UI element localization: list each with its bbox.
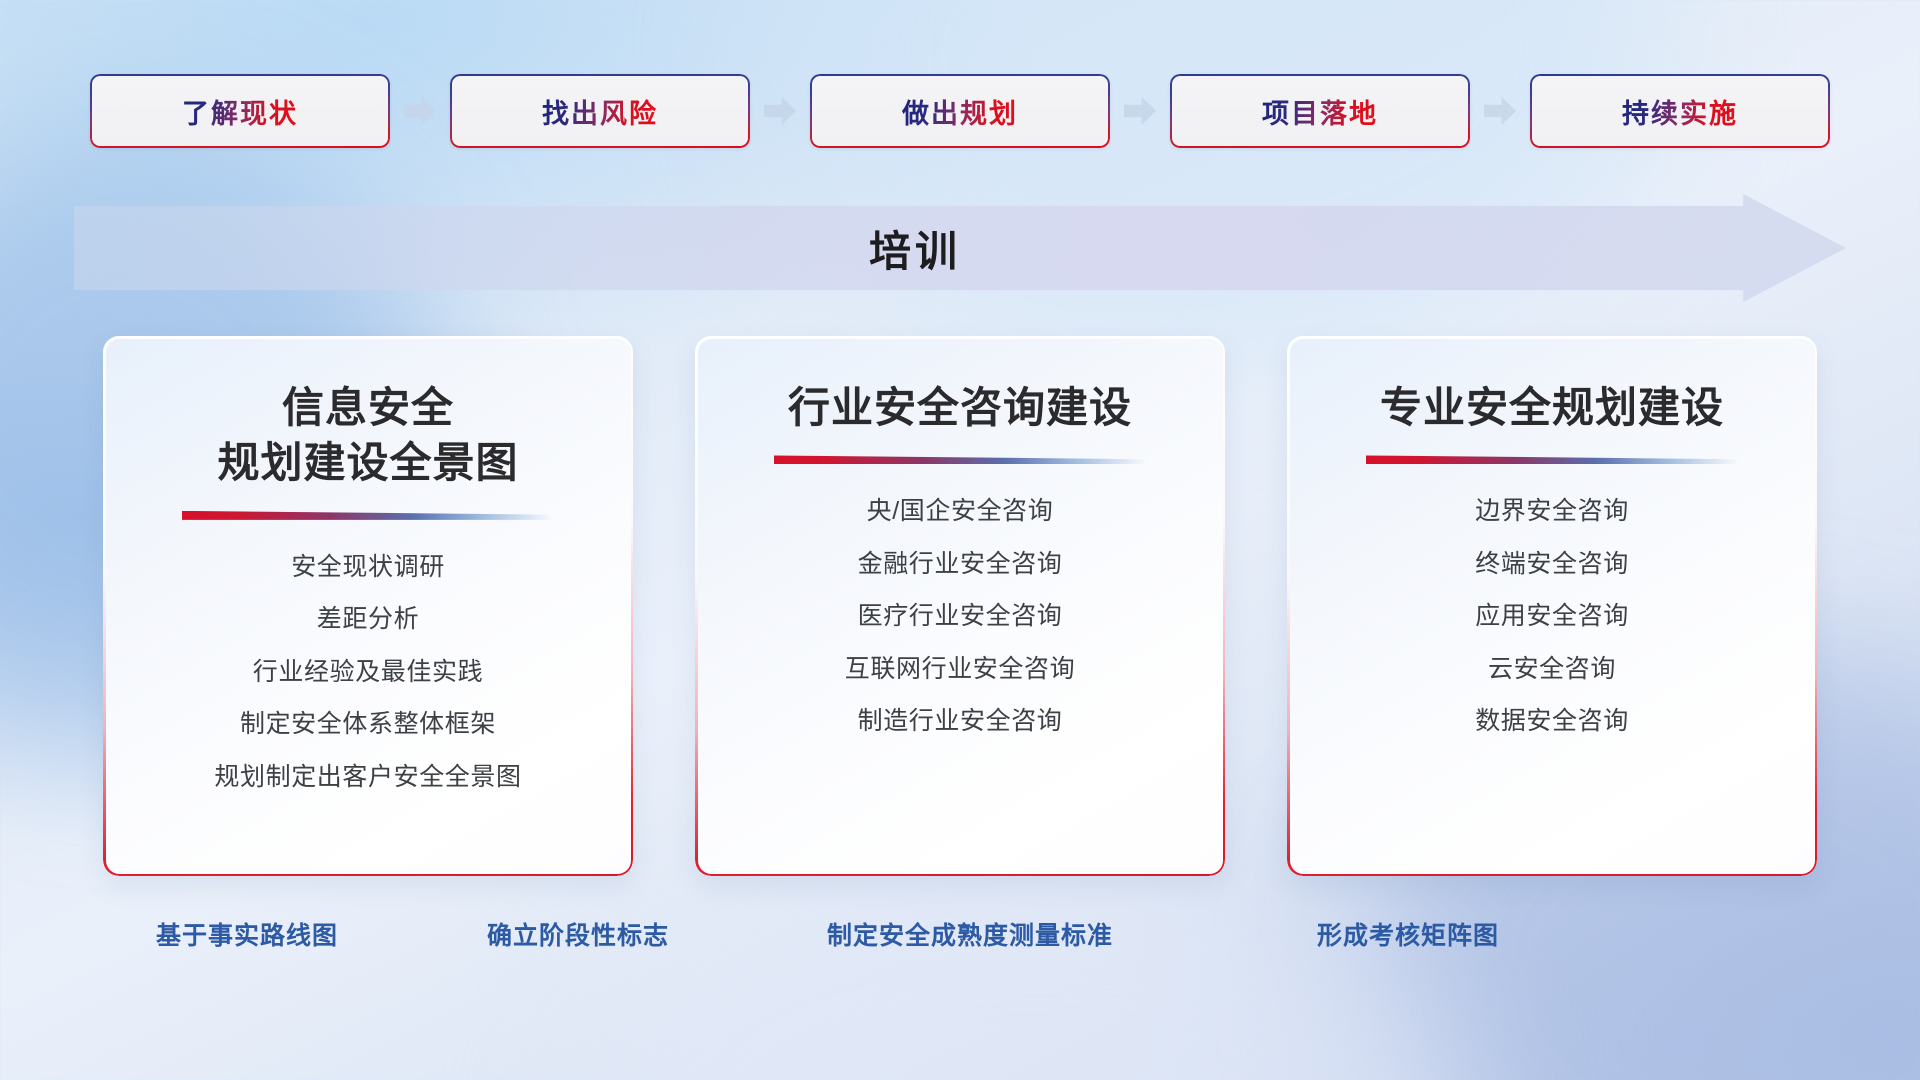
process-step-2[interactable]: 找出风险 [450, 74, 750, 148]
process-step-label: 做出规划 [902, 92, 1018, 131]
feature-card-title: 信息安全 规划建设全景图 [217, 380, 518, 491]
list-item: 差距分析 [317, 598, 419, 641]
background-blob-top [768, 0, 1668, 360]
feature-card-list: 央/国企安全咨询金融行业安全咨询医疗行业安全咨询互联网行业安全咨询制造行业安全咨… [695, 490, 1225, 743]
process-step-label: 持续实施 [1622, 92, 1738, 131]
feature-card-title: 行业安全咨询建设 [788, 380, 1132, 435]
list-item: 互联网行业安全咨询 [845, 648, 1075, 691]
process-step-label: 了解现状 [182, 92, 298, 131]
feature-card-list: 边界安全咨询终端安全咨询应用安全咨询云安全咨询数据安全咨询 [1287, 490, 1817, 743]
list-item: 行业经验及最佳实践 [253, 651, 483, 694]
list-item: 规划制定出客户安全全景图 [214, 756, 521, 799]
process-step-4[interactable]: 项目落地 [1170, 74, 1470, 148]
list-item: 医疗行业安全咨询 [858, 595, 1063, 638]
feature-card-list: 安全现状调研差距分析行业经验及最佳实践制定安全体系整体框架规划制定出客户安全全景… [103, 546, 633, 799]
list-item: 终端安全咨询 [1475, 543, 1629, 586]
process-step-label: 项目落地 [1262, 92, 1378, 131]
list-item: 云安全咨询 [1488, 648, 1616, 691]
step-arrow-icon [764, 97, 796, 125]
process-step-5[interactable]: 持续实施 [1530, 74, 1830, 148]
feature-card-1[interactable]: 信息安全 规划建设全景图安全现状调研差距分析行业经验及最佳实践制定安全体系整体框… [103, 336, 633, 876]
footnote-label: 制定安全成熟度测量标准 [827, 916, 1113, 952]
footnote-label: 形成考核矩阵图 [1317, 916, 1499, 952]
feature-card-2[interactable]: 行业安全咨询建设央/国企安全咨询金融行业安全咨询医疗行业安全咨询互联网行业安全咨… [695, 336, 1225, 876]
process-step-row: 了解现状找出风险做出规划项目落地持续实施 [0, 74, 1920, 148]
list-item: 制定安全体系整体框架 [240, 703, 496, 746]
process-step-label: 找出风险 [542, 92, 658, 131]
list-item: 制造行业安全咨询 [858, 700, 1063, 743]
footnote-label: 确立阶段性标志 [487, 916, 669, 952]
list-item: 数据安全咨询 [1475, 700, 1629, 743]
feature-card-3[interactable]: 专业安全规划建设边界安全咨询终端安全咨询应用安全咨询云安全咨询数据安全咨询 [1287, 336, 1817, 876]
list-item: 边界安全咨询 [1475, 490, 1629, 533]
list-item: 安全现状调研 [291, 546, 445, 589]
list-item: 应用安全咨询 [1475, 595, 1629, 638]
list-item: 金融行业安全咨询 [858, 543, 1063, 586]
list-item: 央/国企安全咨询 [867, 490, 1054, 533]
process-step-1[interactable]: 了解现状 [90, 74, 390, 148]
training-banner-label: 培训 [869, 218, 961, 279]
feature-card-row: 信息安全 规划建设全景图安全现状调研差距分析行业经验及最佳实践制定安全体系整体框… [0, 336, 1920, 876]
feature-card-title: 专业安全规划建设 [1380, 380, 1724, 435]
footnote-label: 基于事实路线图 [156, 916, 338, 952]
card-divider [182, 511, 554, 520]
card-divider [774, 455, 1146, 464]
process-step-3[interactable]: 做出规划 [810, 74, 1110, 148]
step-arrow-icon [404, 97, 436, 125]
background-blob-bottom [576, 860, 1476, 1080]
step-arrow-icon [1484, 97, 1516, 125]
card-divider [1366, 455, 1738, 464]
step-arrow-icon [1124, 97, 1156, 125]
footnote-row: 基于事实路线图确立阶段性标志制定安全成熟度测量标准形成考核矩阵图 [0, 916, 1920, 958]
training-banner-arrow: 培训 [74, 194, 1846, 302]
